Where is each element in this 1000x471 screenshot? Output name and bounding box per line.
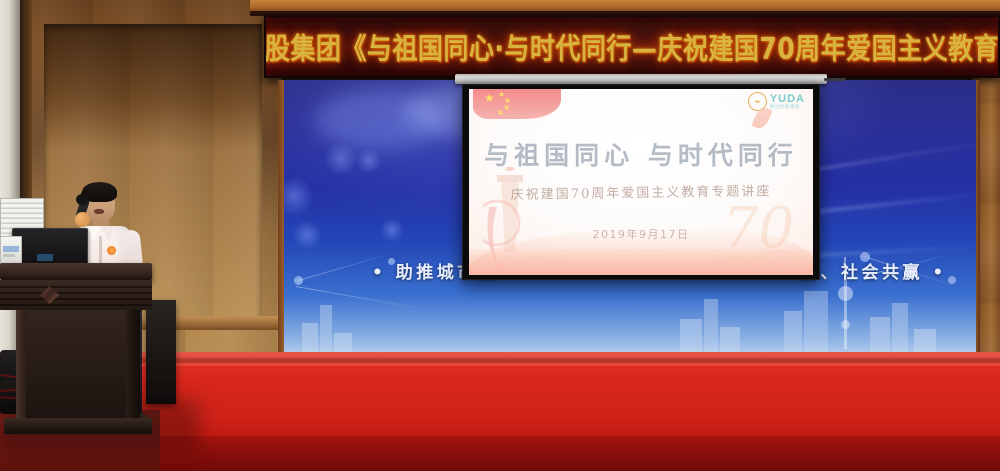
backdrop-bokeh [380,218,404,242]
projection-screen: ★ ★ ★ ★ ★ ⌁ YUDA 裕达控股集团 70 [469,89,813,275]
backdrop-bokeh [292,220,322,250]
podium-base [4,418,152,434]
backdrop-bokeh [284,176,314,216]
flag-star-small: ★ [497,109,504,117]
podium-monitor [12,228,88,268]
podium-groove [0,286,152,288]
speaker-lapel-pin [107,246,116,255]
speaker-mouth [94,209,104,214]
ceiling-wood-beam [250,0,1000,11]
backdrop-network-node [948,276,956,284]
podium-groove [0,304,152,306]
yuda-logo-subtext: 裕达控股集团 [770,105,805,110]
backdrop-network-line [296,286,414,308]
led-banner-text: 广西裕达控股集团《与祖国同心·与时代同行—庆祝建国70周年爱国主义教育专题讲座》 [264,26,1000,68]
podium-groove [0,292,152,294]
slide-company-logo: ⌁ YUDA 裕达控股集团 [748,92,805,111]
speaker-left-hand [75,212,90,227]
flag-star-large: ★ [484,94,495,102]
backdrop-network-node [294,276,303,285]
slide-title: 与祖国同心 与时代同行 [469,136,813,172]
slide-date: 2019年9月17日 [469,226,813,242]
backdrop-slogan-right: 业、社会共赢 • [800,258,947,283]
monitor-screen-glint [37,254,53,261]
podium-body-right-edge [126,310,140,422]
podium-groove [0,298,152,300]
backdrop-bokeh [356,148,382,174]
slide-wave-decoration [469,249,813,275]
led-scrolling-banner: 广西裕达控股集团《与祖国同心·与时代同行—庆祝建国70周年爱国主义教育专题讲座》 [264,15,1000,78]
photo-scene: 广西裕达控股集团《与祖国同心·与时代同行—庆祝建国70周年爱国主义教育专题讲座》 [0,0,1000,471]
backdrop-bokeh [324,142,358,176]
podium-desktop [0,263,152,280]
screen-power-cable [824,78,846,81]
loudspeaker-cabinet [146,300,176,404]
podium-body [16,310,136,422]
chinese-flag-graphic: ★ ★ ★ ★ ★ [473,89,561,119]
podium-body-left-edge [16,310,26,422]
podium-front-band [0,280,152,310]
microphone-head [76,194,88,205]
oriental-pearl-tower-sphere [838,286,853,301]
name-card-text-line [3,254,15,257]
oriental-pearl-tower-sphere [841,320,850,329]
yuda-logo-text: YUDA 裕达控股集团 [770,94,805,110]
name-card-text-line [3,246,19,252]
